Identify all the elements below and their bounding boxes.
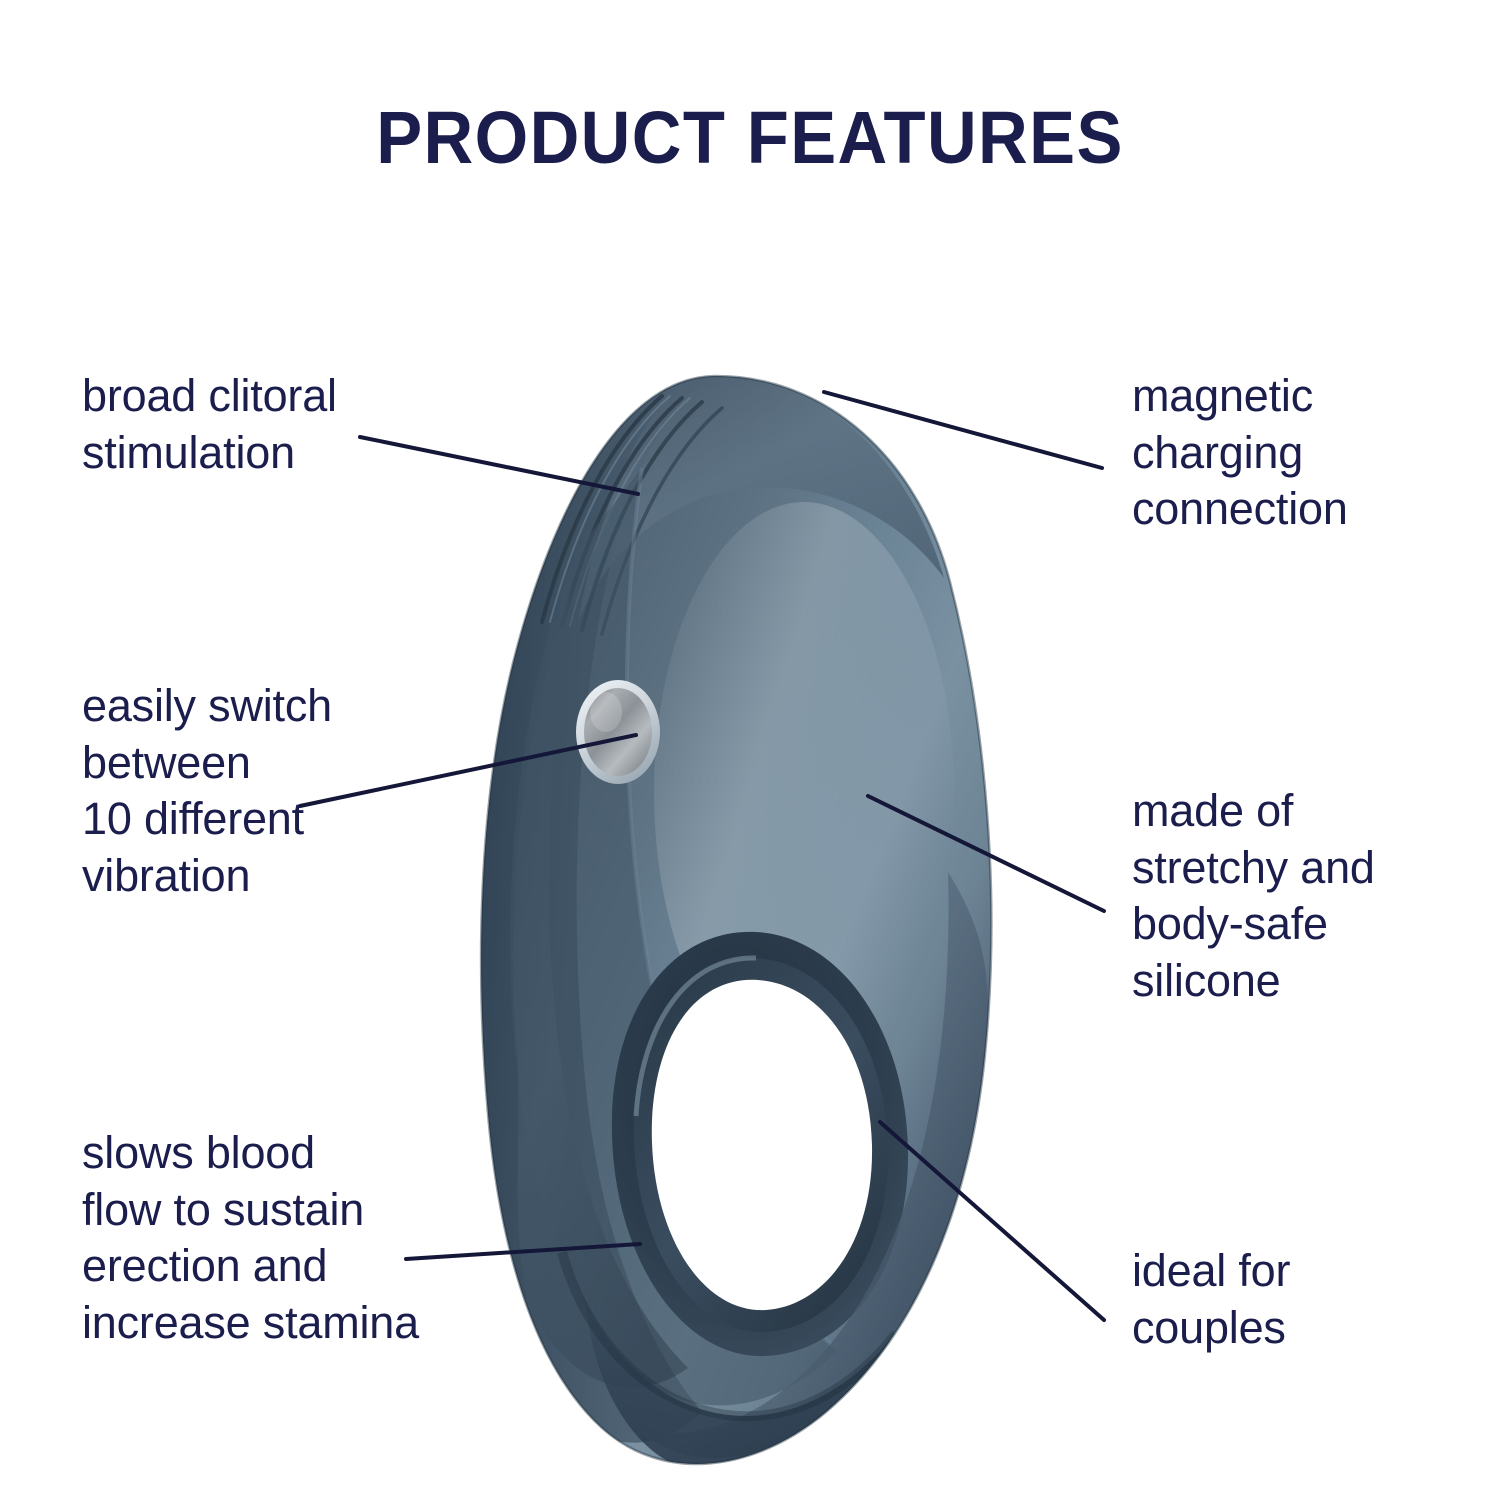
power-button[interactable] — [576, 680, 660, 784]
callout-easily-switch-vibration: easily switch between 10 different vibra… — [82, 678, 482, 905]
product-image — [466, 372, 1026, 1482]
callout-made-of-stretchy-silicone: made of stretchy and body-safe silicone — [1132, 783, 1482, 1010]
page-title: PRODUCT FEATURES — [53, 95, 1448, 180]
callout-broad-clitoral-stimulation: broad clitoral stimulation — [82, 368, 482, 481]
callout-magnetic-charging-connection: magnetic charging connection — [1132, 368, 1482, 538]
product-body — [481, 376, 991, 1472]
product-features-infographic: PRODUCT FEATURES — [0, 0, 1500, 1495]
callout-slows-blood-flow: slows blood flow to sustain erection and… — [82, 1125, 512, 1352]
callout-ideal-for-couples: ideal for couples — [1132, 1243, 1482, 1356]
